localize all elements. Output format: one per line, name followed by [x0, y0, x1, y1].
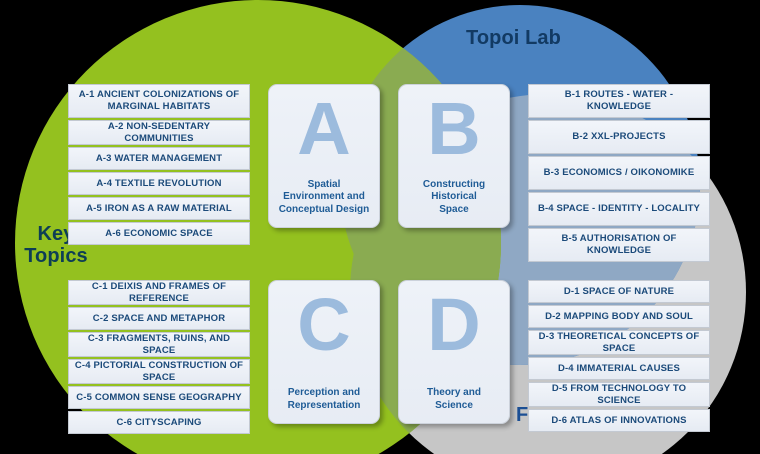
topic-card[interactable]: B-5 AUTHORISATION OF KNOWLEDGE: [528, 228, 710, 262]
quadrant-caption-d: Theory and Science: [427, 387, 481, 413]
topic-card[interactable]: A-3 WATER MANAGEMENT: [68, 147, 250, 170]
topic-card[interactable]: B-2 XXL-PROJECTS: [528, 120, 710, 154]
topic-card[interactable]: D-3 THEORETICAL CONCEPTS OF SPACE: [528, 330, 710, 355]
topic-card[interactable]: C-4 PICTORIAL CONSTRUCTION OF SPACE: [68, 359, 250, 384]
topic-card[interactable]: B-4 SPACE - IDENTITY - LOCALITY: [528, 192, 710, 226]
topic-card[interactable]: A-6 ECONOMIC SPACE: [68, 222, 250, 245]
topic-card[interactable]: D-5 FROM TECHNOLOGY TO SCIENCE: [528, 382, 710, 407]
quadrant-caption-a: Spatial Environment and Conceptual Desig…: [279, 179, 370, 217]
quadrant-panel-c[interactable]: C Perception and Representation: [268, 280, 380, 424]
circle-label-topoi-lab: Topoi Lab: [466, 28, 561, 50]
quadrant-panel-a[interactable]: A Spatial Environment and Conceptual Des…: [268, 84, 380, 228]
quadrant-panel-d[interactable]: D Theory and Science: [398, 280, 510, 424]
topic-card[interactable]: D-6 ATLAS OF INNOVATIONS: [528, 409, 710, 432]
topic-card[interactable]: A-2 NON-SEDENTARY COMMUNITIES: [68, 120, 250, 145]
topic-card[interactable]: C-6 CITYSCAPING: [68, 411, 250, 434]
topic-card[interactable]: D-1 SPACE OF NATURE: [528, 280, 710, 303]
topic-list-d: D-1 SPACE OF NATURE D-2 MAPPING BODY AND…: [528, 280, 710, 432]
topic-card[interactable]: A-5 IRON AS A RAW MATERIAL: [68, 197, 250, 220]
topic-card[interactable]: A-1 ANCIENT COLONIZATIONS OF MARGINAL HA…: [68, 84, 250, 118]
topic-card[interactable]: D-2 MAPPING BODY AND SOUL: [528, 305, 710, 328]
topic-card[interactable]: D-4 IMMATERIAL CAUSES: [528, 357, 710, 380]
grid-gutter-bottom: [380, 280, 398, 434]
grid-gutter-top: [380, 84, 398, 262]
topic-card[interactable]: C-1 DEIXIS AND FRAMES OF REFERENCE: [68, 280, 250, 305]
quadrant-caption-c: Perception and Representation: [288, 387, 361, 413]
topic-card[interactable]: C-2 SPACE AND METAPHOR: [68, 307, 250, 330]
topic-list-b: B-1 ROUTES - WATER - KNOWLEDGE B-2 XXL-P…: [528, 84, 710, 262]
quadrant-caption-b: Constructing Historical Space: [423, 179, 485, 217]
topic-card[interactable]: C-3 FRAGMENTS, RUINS, AND SPACE: [68, 332, 250, 357]
topic-card[interactable]: C-5 COMMON SENSE GEOGRAPHY: [68, 386, 250, 409]
topic-list-c: C-1 DEIXIS AND FRAMES OF REFERENCE C-2 S…: [68, 280, 250, 434]
quadrant-letter-c: C: [297, 289, 350, 362]
quadrant-letter-b: B: [427, 93, 480, 166]
quadrant-letter-a: A: [297, 93, 350, 166]
topic-card[interactable]: B-1 ROUTES - WATER - KNOWLEDGE: [528, 84, 710, 118]
quadrant-letter-d: D: [427, 289, 480, 362]
research-areas-grid: A-1 ANCIENT COLONIZATIONS OF MARGINAL HA…: [68, 84, 730, 434]
topic-list-a: A-1 ANCIENT COLONIZATIONS OF MARGINAL HA…: [68, 84, 250, 245]
quadrant-panel-b[interactable]: B Constructing Historical Space: [398, 84, 510, 228]
topic-card[interactable]: B-3 ECONOMICS / OIKONOMIKE: [528, 156, 710, 190]
topic-card[interactable]: A-4 TEXTILE REVOLUTION: [68, 172, 250, 195]
diagram-canvas: Topoi Lab Key Topics Forum A-1 ANCIENT C…: [0, 0, 760, 454]
